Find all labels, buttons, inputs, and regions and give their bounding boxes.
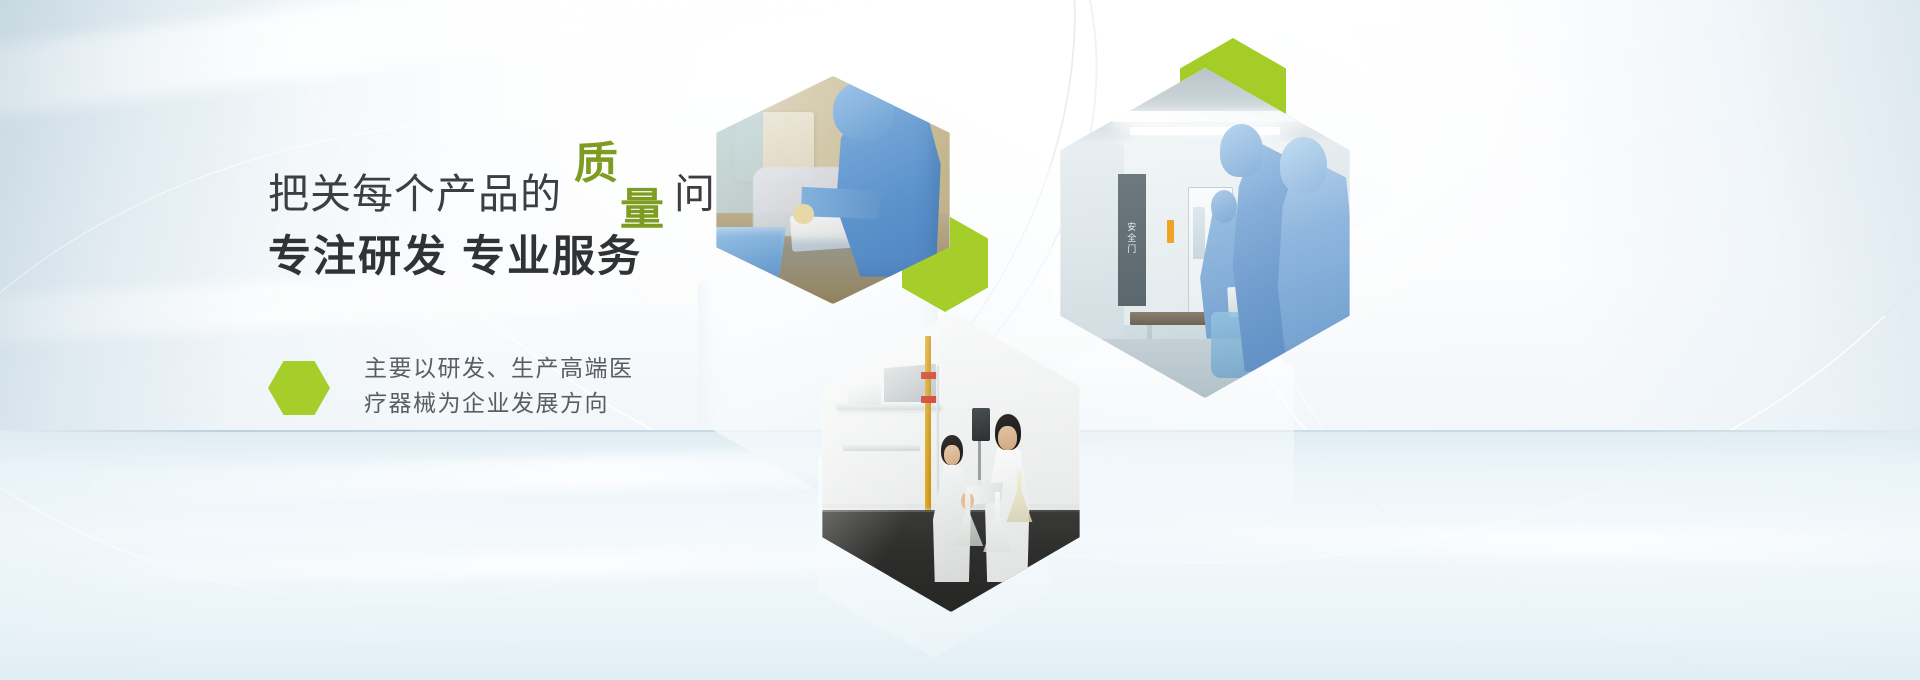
headline-accent-quality: 质 [574,142,618,186]
hero-banner: 把关每个产品的 质 量 问题 专注研发 专业服务 主要以研发、生产高端医 疗器械… [0,0,1920,680]
hexagon-photo-cluster: 安 全 门 [690,0,1450,680]
subtitle-text: 主要以研发、生产高端医 疗器械为企业发展方向 [364,351,634,421]
hexagon-bullet-icon [268,361,330,415]
background-right-gradient [1400,0,1920,680]
subtitle-line-1: 主要以研发、生产高端医 [364,351,634,386]
subtitle-line-2: 疗器械为企业发展方向 [364,386,634,421]
headline-accent-quantity: 量 [620,188,664,232]
headline-prefix: 把关每个产品的 [268,174,562,215]
